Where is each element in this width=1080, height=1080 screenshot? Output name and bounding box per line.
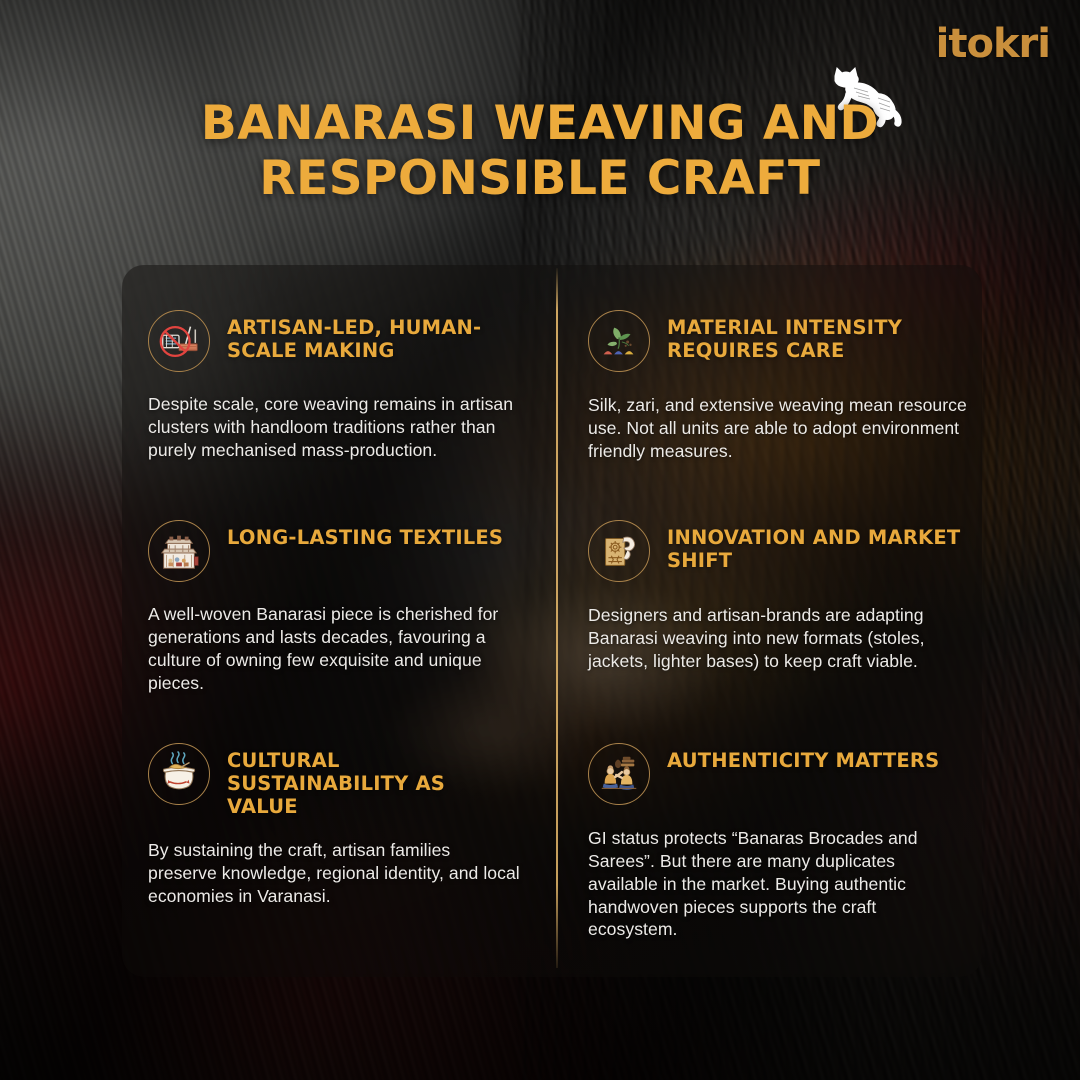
list-item-body: GI status protects “Banaras Brocades and…	[588, 827, 968, 941]
steaming-dye-pot-icon	[148, 743, 210, 805]
benefits-grid: ARTISAN-LED, HUMAN-SCALE MAKING Despite …	[122, 265, 982, 977]
list-item-title: AUTHENTICITY MATTERS	[667, 743, 939, 773]
list-item-header: AUTHENTICITY MATTERS	[588, 743, 968, 805]
list-item-header: LONG-LASTING TEXTILES	[148, 520, 520, 582]
list-item: LONG-LASTING TEXTILES A well-woven Banar…	[122, 485, 556, 703]
page-title: BANARASI WEAVING AND RESPONSIBLE CRAFT	[0, 96, 1080, 206]
list-item-header: ARTISAN-LED, HUMAN-SCALE MAKING	[148, 310, 520, 372]
list-item: CULTURAL SUSTAINABILITY AS VALUE By sust…	[122, 703, 556, 977]
list-item-header: MATERIAL INTENSITY REQUIRES CARE	[588, 310, 968, 372]
list-item-body: By sustaining the craft, artisan familie…	[148, 839, 520, 908]
craft-shop-building-icon	[148, 520, 210, 582]
list-item-title: LONG-LASTING TEXTILES	[227, 520, 503, 550]
list-item-title: CULTURAL SUSTAINABILITY AS VALUE	[227, 743, 520, 818]
list-item-title: ARTISAN-LED, HUMAN-SCALE MAKING	[227, 310, 520, 363]
list-item-header: CULTURAL SUSTAINABILITY AS VALUE	[148, 743, 520, 818]
list-item-title: INNOVATION AND MARKET SHIFT	[667, 520, 968, 573]
list-item-body: Silk, zari, and extensive weaving mean r…	[588, 394, 968, 463]
hand-holding-patterned-fabric-icon	[588, 520, 650, 582]
brand-logo-text: itokri	[936, 24, 1050, 64]
list-item: AUTHENTICITY MATTERS GI status protects …	[556, 703, 982, 977]
leaves-dye-piles-icon	[588, 310, 650, 372]
list-item-header: INNOVATION AND MARKET SHIFT	[588, 520, 968, 582]
brand-logo[interactable]: itokri	[936, 24, 1050, 64]
list-item-body: Despite scale, core weaving remains in a…	[148, 393, 520, 462]
list-item-title: MATERIAL INTENSITY REQUIRES CARE	[667, 310, 968, 363]
list-item-body: A well-woven Banarasi piece is cherished…	[148, 603, 520, 694]
list-item: INNOVATION AND MARKET SHIFT Designers an…	[556, 485, 982, 703]
list-item: MATERIAL INTENSITY REQUIRES CARE Silk, z…	[556, 265, 982, 485]
two-seated-artisans-icon	[588, 743, 650, 805]
no-machine-loom-icon	[148, 310, 210, 372]
list-item: ARTISAN-LED, HUMAN-SCALE MAKING Despite …	[122, 265, 556, 485]
list-item-body: Designers and artisan-brands are adaptin…	[588, 604, 968, 673]
